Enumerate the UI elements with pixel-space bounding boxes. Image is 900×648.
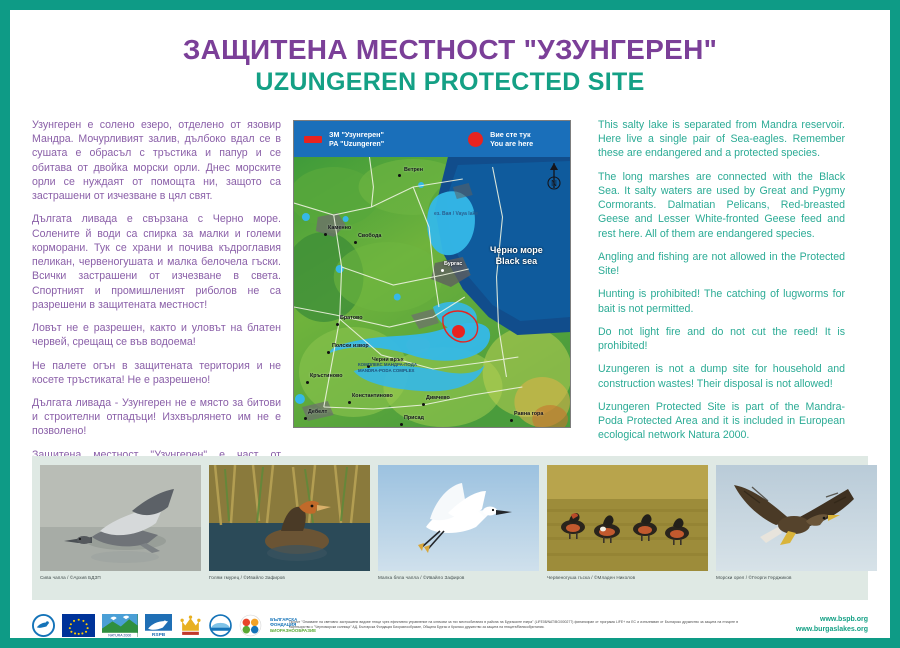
body-columns: Узунгерен е солено езеро, отделено от яз… (10, 118, 890, 443)
footer-links: www.bspb.org www.burgaslakes.org (750, 615, 868, 635)
legend-area-bg: ЗМ "Узунгерен" (329, 130, 384, 140)
eu-flag-logo-icon[interactable] (62, 614, 95, 637)
photo-white-tailed-eagle[interactable] (716, 465, 877, 571)
map-canvas[interactable]: Ветрен Каменно Свобода Братово Полски из… (294, 157, 570, 428)
en-paragraph-1: This salty lake is separated from Mandra… (598, 118, 845, 161)
natura-2000-label: NATURA 2000 (109, 633, 132, 637)
bbf-logo-icon[interactable] (239, 614, 262, 637)
photo-red-breasted-goose[interactable] (547, 465, 708, 571)
bg-paragraph-3: Ловът не е разрешен, както и уловът на б… (32, 321, 281, 349)
en-paragraph-5: Do not light fire and do not cut the ree… (598, 325, 845, 353)
photo-cell-great-crested-grebe: Голям гмурец / ©Ивайло Зафиров (209, 465, 370, 600)
map-town-dot-prisad (400, 423, 403, 426)
rspb-label: RSPB (152, 631, 166, 636)
photo-caption-great-crested-grebe: Голям гмурец / ©Ивайло Зафиров (209, 575, 370, 580)
bg-paragraph-2: Дългата ливада е свързана с Черно море. … (32, 212, 281, 312)
compass-north-icon: N (544, 162, 564, 192)
poster-root: ЗАЩИТЕНА МЕСТНОСТ "УЗУНГЕРЕН" UZUNGEREN … (0, 0, 900, 648)
map-town-dot-krastinovo (306, 381, 309, 384)
photo-great-crested-grebe[interactable] (209, 465, 370, 571)
map-town-dot-kamenno (324, 233, 327, 236)
rspb-logo-icon[interactable]: RSPB (145, 614, 172, 637)
map-town-dot-svoboda (354, 241, 357, 244)
footer-project-note: Проект "Опазване на световно застрашени … (277, 620, 750, 630)
map-town-dot-vetren (398, 174, 401, 177)
photo-grey-heron[interactable] (40, 465, 201, 571)
bg-paragraph-5: Дългата ливада - Узунгерен не е място за… (32, 396, 281, 439)
en-paragraph-4: Hunting is prohibited! The catching of l… (598, 287, 845, 315)
map-town-dot-bratovo (336, 323, 339, 326)
map-town-dot-debelt (304, 417, 307, 420)
map-city-dot-burgas (441, 269, 444, 272)
map-town-dot-dimchevo (422, 403, 425, 406)
legend-area-en: PA "Uzungeren" (329, 139, 384, 149)
map-column: ЗМ "Узунгерен" PA "Uzungeren" Вие сте ту… (293, 118, 584, 428)
map-legend: ЗМ "Узунгерен" PA "Uzungeren" Вие сте ту… (294, 121, 570, 157)
en-paragraph-2: The long marshes are connected with the … (598, 170, 845, 241)
bg-paragraph-4: Не палете огън в защитената територия и … (32, 359, 281, 387)
legend-you-are-here: Вие сте тук You are here (468, 130, 533, 149)
photo-caption-grey-heron: Сива чапла / ©Архив БДЗП (40, 575, 201, 580)
photo-cell-grey-heron: Сива чапла / ©Архив БДЗП (40, 465, 201, 600)
page-title-english: UZUNGEREN PROTECTED SITE (10, 68, 890, 97)
map-town-dot-polski-izvor (327, 351, 330, 354)
photo-little-egret[interactable] (378, 465, 539, 571)
photo-caption-red-breasted-goose: Червеногуша гъска / ©Младен Николов (547, 575, 708, 580)
legend-here-bg: Вие сте тук (490, 130, 533, 140)
photo-caption-little-egret: Малка бяла чапла / ©Ивайло Зафиров (378, 575, 539, 580)
bulgarian-text-column: Узунгерен е солено езеро, отделено от яз… (10, 118, 293, 490)
legend-red-dot-icon (468, 132, 483, 147)
footer-logos: NATURA 2000 RSPB (32, 614, 277, 637)
legend-here-en: You are here (490, 139, 533, 149)
map-town-dot-konstantinovo (348, 401, 351, 404)
en-paragraph-6: Uzungeren is not a dump site for househo… (598, 362, 845, 390)
footer-bar: NATURA 2000 RSPB (32, 608, 868, 638)
en-paragraph-7: Uzungeren Protected Site is part of the … (598, 400, 845, 443)
life-programme-logo-icon[interactable] (209, 614, 232, 637)
legend-protected-area: ЗМ "Узунгерен" PA "Uzungeren" (304, 130, 384, 149)
photo-cell-red-breasted-goose: Червеногуша гъска / ©Младен Николов (547, 465, 708, 600)
poster-inner: ЗАЩИТЕНА МЕСТНОСТ "УЗУНГЕРЕН" UZUNGEREN … (10, 10, 890, 638)
photo-gallery: Сива чапла / ©Архив БДЗП (32, 456, 868, 600)
map-town-dot-ravna-gora (510, 419, 513, 422)
you-are-here-marker (452, 325, 465, 338)
svg-text:N: N (551, 179, 557, 188)
en-paragraph-3: Angling and fishing are not allowed in t… (598, 250, 845, 278)
page-title-bulgarian: ЗАЩИТЕНА МЕСТНОСТ "УЗУНГЕРЕН" (10, 34, 890, 65)
bspb-logo-icon[interactable] (32, 614, 55, 637)
burgas-municipality-logo-icon[interactable] (179, 614, 202, 637)
photo-cell-little-egret: Малка бяла чапла / ©Ивайло Зафиров (378, 465, 539, 600)
link-burgaslakes[interactable]: www.burgaslakes.org (750, 625, 868, 635)
bg-paragraph-1: Узунгерен е солено езеро, отделено от яз… (32, 118, 281, 203)
photo-cell-white-tailed-eagle: Морски орел / ©Георги Герджиков (716, 465, 877, 600)
english-text-column: This salty lake is separated from Mandra… (584, 118, 867, 442)
poster-titles: ЗАЩИТЕНА МЕСТНОСТ "УЗУНГЕРЕН" UZUNGEREN … (10, 10, 890, 97)
link-bspb[interactable]: www.bspb.org (750, 615, 868, 625)
natura-2000-logo-icon[interactable]: NATURA 2000 (102, 614, 138, 637)
map-terrain-graphic (294, 157, 570, 428)
legend-red-bar-icon (304, 136, 322, 143)
photo-caption-white-tailed-eagle: Морски орел / ©Георги Герджиков (716, 575, 877, 580)
map-town-dot-cherni-vrah (367, 365, 370, 368)
location-map[interactable]: ЗМ "Узунгерен" PA "Uzungeren" Вие сте ту… (293, 120, 571, 428)
